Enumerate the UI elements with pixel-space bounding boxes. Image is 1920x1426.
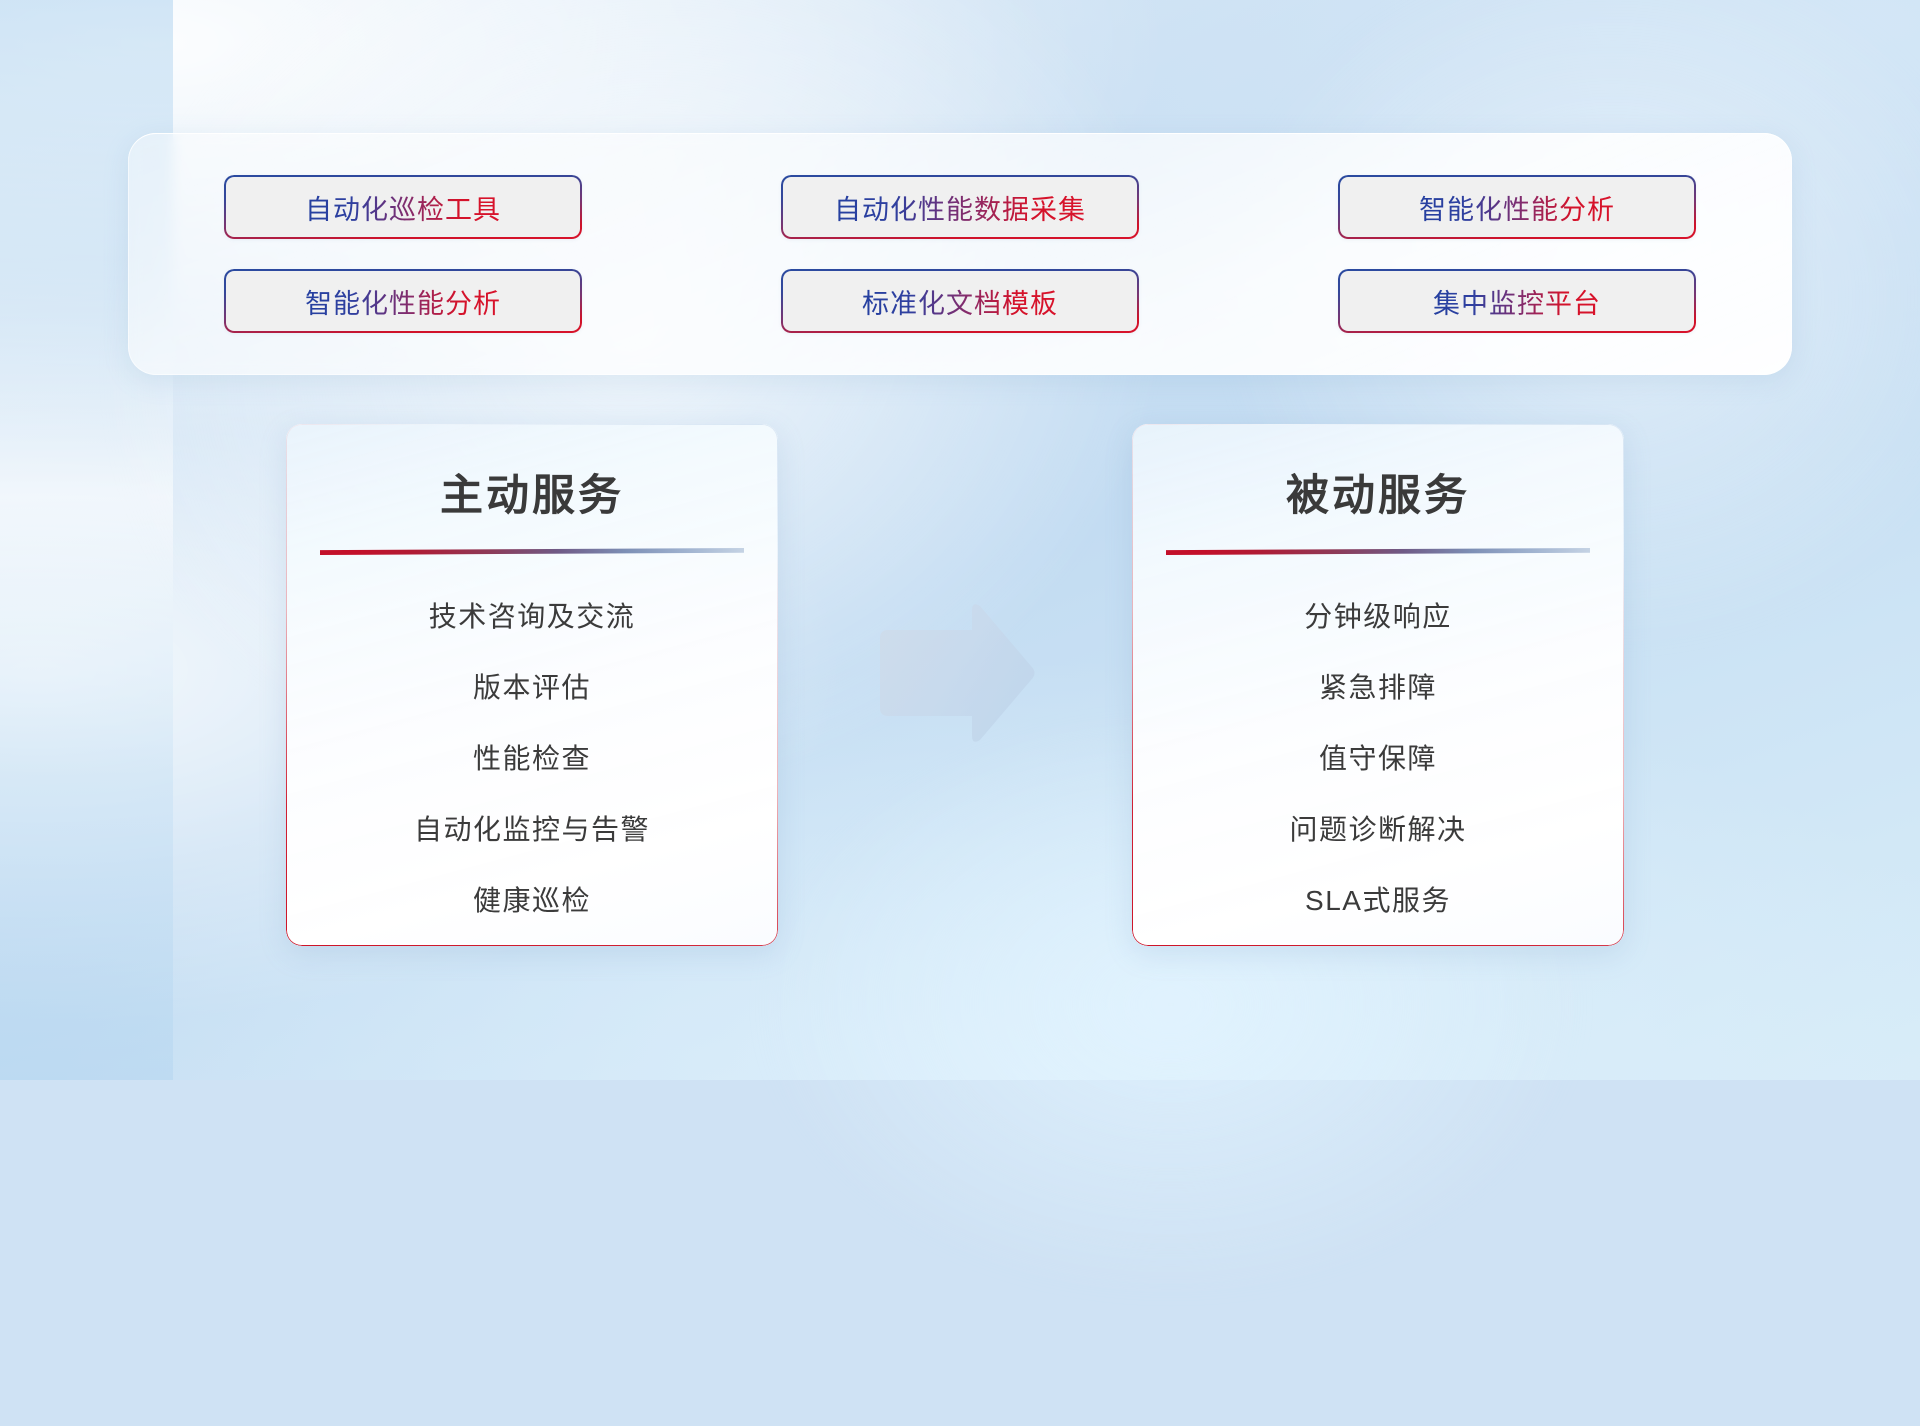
card-list-item: 健康巡检	[473, 879, 591, 919]
card-title: 被动服务	[1132, 461, 1624, 523]
capability-pill-label: 智能化性能分析	[305, 282, 501, 321]
capability-pill[interactable]: 智能化性能分析	[1338, 175, 1696, 239]
service-card-proactive: 主动服务 技术咨询及交流 版本评估 性能检查 自动化监控与告警 健康巡检	[286, 424, 778, 946]
capability-pill-label: 集中监控平台	[1433, 282, 1601, 321]
card-item-list: 技术咨询及交流 版本评估 性能检查 自动化监控与告警 健康巡检	[286, 595, 778, 919]
card-list-item: 性能检查	[473, 737, 591, 777]
capability-pill[interactable]: 自动化巡检工具	[224, 175, 582, 239]
card-list-item: 分钟级响应	[1304, 595, 1452, 635]
capability-pill[interactable]: 集中监控平台	[1338, 269, 1696, 333]
card-list-item: SLA式服务	[1305, 879, 1451, 919]
capability-pill[interactable]: 标准化文档模板	[781, 269, 1139, 333]
card-list-item: 技术咨询及交流	[429, 595, 636, 635]
card-item-list: 分钟级响应 紧急排障 值守保障 问题诊断解决 SLA式服务	[1132, 595, 1624, 919]
capability-pill-label: 智能化性能分析	[1419, 188, 1615, 227]
card-list-item: 问题诊断解决	[1289, 808, 1466, 848]
capability-pill-label: 自动化巡检工具	[305, 188, 501, 227]
capability-panel: 自动化巡检工具 自动化性能数据采集 智能化性能分析 智能化性能分析 标准化文档模…	[128, 133, 1792, 375]
capability-row-1: 自动化巡检工具 自动化性能数据采集 智能化性能分析	[224, 175, 1696, 239]
card-list-item: 版本评估	[473, 666, 591, 706]
card-list-item: 紧急排障	[1319, 666, 1437, 706]
capability-pill[interactable]: 智能化性能分析	[224, 269, 582, 333]
capability-row-2: 智能化性能分析 标准化文档模板 集中监控平台	[224, 269, 1696, 333]
card-title: 主动服务	[286, 461, 778, 523]
capability-pill-label: 标准化文档模板	[862, 282, 1058, 321]
card-list-item: 值守保障	[1319, 737, 1437, 777]
card-title-divider	[320, 548, 744, 555]
service-card-reactive: 被动服务 分钟级响应 紧急排障 值守保障 问题诊断解决 SLA式服务	[1132, 424, 1624, 946]
card-list-item: 自动化监控与告警	[414, 808, 650, 848]
arrow-right-icon	[876, 600, 1038, 746]
capability-pill-label: 自动化性能数据采集	[834, 188, 1086, 227]
card-title-divider	[1166, 548, 1590, 555]
capability-pill[interactable]: 自动化性能数据采集	[781, 175, 1139, 239]
